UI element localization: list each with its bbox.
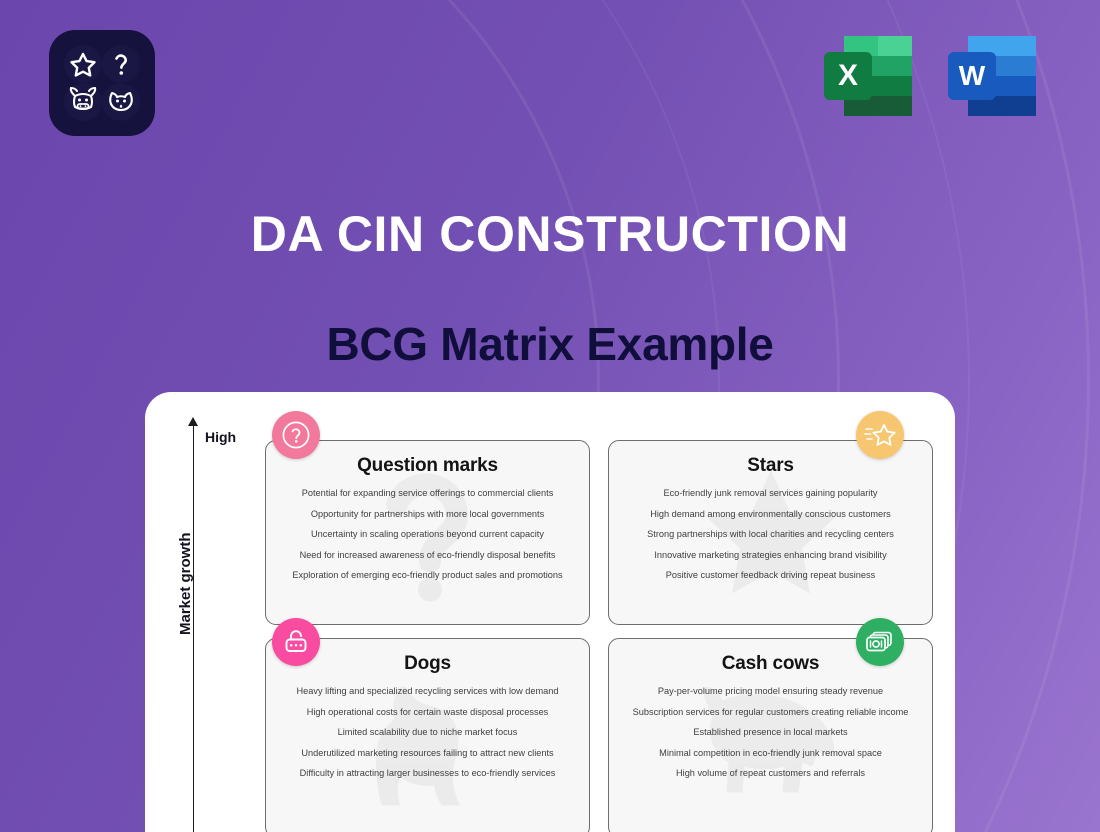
bcg-matrix-logo — [47, 28, 157, 138]
question-mark-icon — [281, 420, 311, 450]
axis-market-growth-label: Market growth — [177, 532, 194, 635]
star-icon — [64, 45, 102, 83]
open-padlock-icon — [281, 627, 311, 657]
list-item: Established presence in local markets — [621, 727, 920, 737]
list-item: Positive customer feedback driving repea… — [621, 570, 920, 580]
axis-arrow-icon — [188, 417, 198, 426]
quadrant-item-list: Pay-per-volume pricing model ensuring st… — [621, 686, 920, 779]
list-item: Innovative marketing strategies enhancin… — [621, 550, 920, 560]
list-item: Strong partnerships with local charities… — [621, 529, 920, 539]
quadrant-item-list: Eco-friendly junk removal services gaini… — [621, 488, 920, 581]
question-mark-icon — [102, 45, 140, 83]
list-item: High volume of repeat customers and refe… — [621, 768, 920, 778]
cash-cows-badge[interactable] — [856, 618, 904, 666]
axis-high-label: High — [205, 429, 236, 445]
list-item: High demand among environmentally consci… — [621, 509, 920, 519]
quadrant-title: Dogs — [278, 653, 577, 675]
quadrant-item-list: Heavy lifting and specialized recycling … — [278, 686, 577, 779]
list-item: Limited scalability due to niche market … — [278, 727, 577, 737]
company-title: DA CIN CONSTRUCTION — [0, 207, 1100, 262]
bcg-quadrant-grid: Question marks Potential for expanding s… — [265, 440, 933, 832]
quadrant-dogs[interactable]: Dogs Heavy lifting and specialized recyc… — [265, 638, 590, 832]
dog-icon — [102, 83, 140, 121]
quadrant-item-list: Potential for expanding service offering… — [278, 488, 577, 581]
list-item: Heavy lifting and specialized recycling … — [278, 686, 577, 696]
cow-icon — [64, 83, 102, 121]
quadrant-question-marks[interactable]: Question marks Potential for expanding s… — [265, 440, 590, 625]
list-item: Difficulty in attracting larger business… — [278, 768, 577, 778]
page-title: BCG Matrix Example — [0, 318, 1100, 371]
stars-badge[interactable] — [856, 411, 904, 459]
quadrant-cash-cows[interactable]: Cash cows Pay-per-volume pricing model e… — [608, 638, 933, 832]
dogs-badge[interactable] — [272, 618, 320, 666]
list-item: Exploration of emerging eco-friendly pro… — [278, 570, 577, 580]
star-icon — [863, 420, 897, 450]
svg-text:X: X — [838, 59, 858, 92]
quadrant-stars[interactable]: Stars Eco-friendly junk removal services… — [608, 440, 933, 625]
matrix-panel: High Market growth Question marks Potent… — [145, 392, 955, 832]
quadrant-title: Question marks — [278, 455, 577, 477]
list-item: Need for increased awareness of eco-frie… — [278, 550, 577, 560]
excel-icon[interactable]: X — [818, 26, 918, 126]
list-item: Opportunity for partnerships with more l… — [278, 509, 577, 519]
list-item: Minimal competition in eco-friendly junk… — [621, 748, 920, 758]
question-marks-badge[interactable] — [272, 411, 320, 459]
list-item: Underutilized marketing resources failin… — [278, 748, 577, 758]
list-item: Potential for expanding service offering… — [278, 488, 577, 498]
list-item: Pay-per-volume pricing model ensuring st… — [621, 686, 920, 696]
slide-canvas: X W DA CIN CONSTRUCTION BCG Matrix Examp… — [0, 0, 1100, 832]
list-item: Subscription services for regular custom… — [621, 707, 920, 717]
word-icon[interactable]: W — [942, 26, 1042, 126]
svg-text:W: W — [959, 60, 986, 91]
list-item: High operational costs for certain waste… — [278, 707, 577, 717]
list-item: Uncertainty in scaling operations beyond… — [278, 529, 577, 539]
list-item: Eco-friendly junk removal services gaini… — [621, 488, 920, 498]
money-stack-icon — [864, 627, 896, 657]
